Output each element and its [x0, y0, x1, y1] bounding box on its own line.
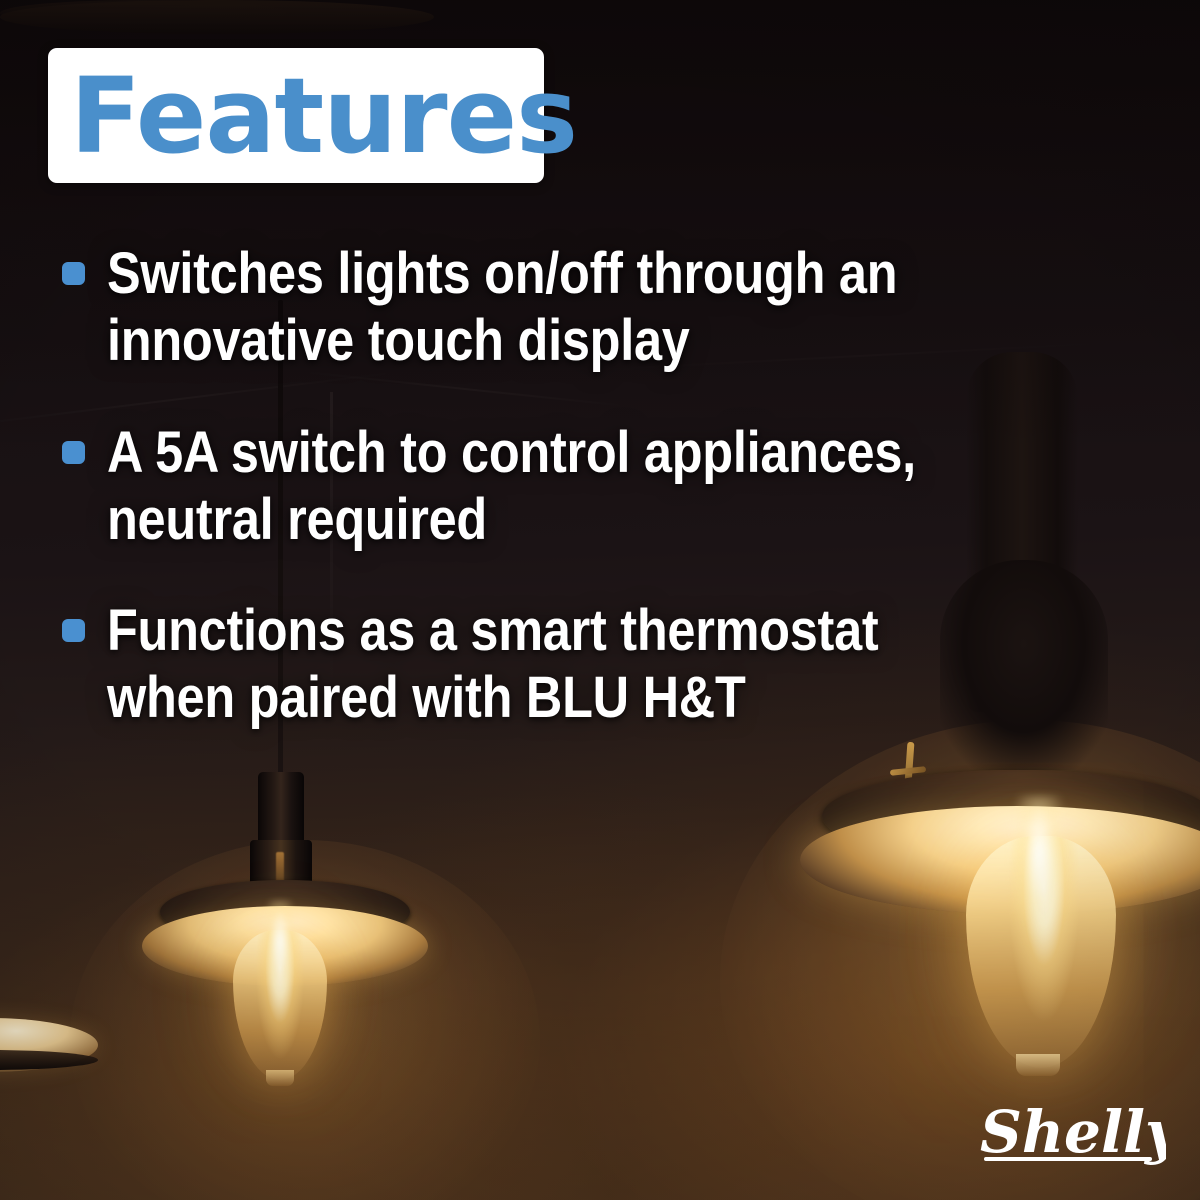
bullet-square-icon [62, 619, 85, 642]
shelly-logo-underline [984, 1157, 1152, 1161]
features-header-box: Features [48, 48, 544, 183]
list-item: Switches lights on/off through an innova… [62, 240, 1092, 375]
slide-content: Features Switches lights on/off through … [0, 0, 1200, 1200]
list-item: Functions as a smart thermostat when pai… [62, 597, 1092, 732]
page-title: Features [70, 64, 577, 168]
bullet-square-icon [62, 262, 85, 285]
feature-text: Switches lights on/off through an innova… [107, 240, 897, 375]
feature-text: A 5A switch to control appliances, neutr… [107, 419, 916, 554]
feature-slide: Features Switches lights on/off through … [0, 0, 1200, 1200]
shelly-logo-text: Shelly [980, 1098, 1166, 1166]
bullet-square-icon [62, 441, 85, 464]
feature-text: Functions as a smart thermostat when pai… [107, 597, 878, 732]
features-list: Switches lights on/off through an innova… [62, 240, 1092, 776]
shelly-logo: Shelly [976, 1094, 1166, 1172]
list-item: A 5A switch to control appliances, neutr… [62, 419, 1092, 554]
